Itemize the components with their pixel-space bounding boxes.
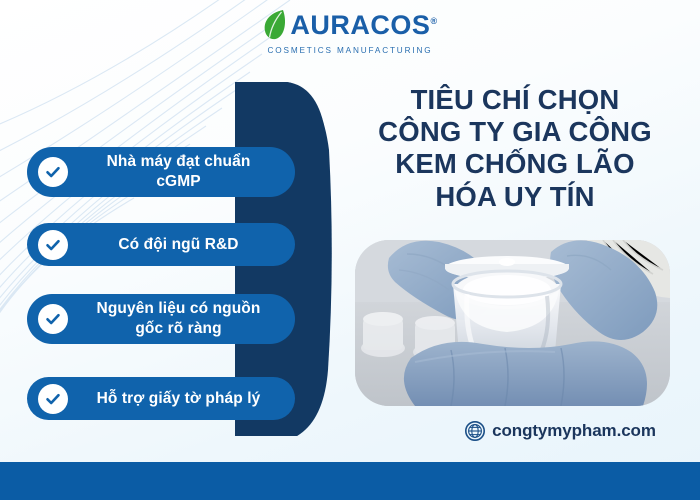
check-circle-icon	[38, 384, 68, 414]
page-title-line1: TIÊU CHÍ CHỌN	[350, 84, 680, 116]
criteria-pill-3-line2: gốc rõ ràng	[135, 320, 221, 337]
criteria-pill-1-label: Nhà máy đạt chuẩn cGMP	[68, 152, 295, 192]
logo-wordmark: AURACOS®	[290, 12, 437, 39]
page-title-line2: CÔNG TY GIA CÔNG	[350, 116, 680, 148]
criteria-pill-1[interactable]: Nhà máy đạt chuẩn cGMP	[27, 147, 295, 197]
criteria-pill-3-label: Nguyên liệu có nguồn gốc rõ ràng	[68, 299, 295, 339]
product-photo	[355, 240, 670, 406]
logo-tagline: COSMETICS MANUFACTURING	[268, 46, 433, 55]
criteria-pill-4[interactable]: Hỗ trợ giấy tờ pháp lý	[27, 377, 295, 420]
check-circle-icon	[38, 157, 68, 187]
footer-bar	[0, 462, 700, 500]
website-url-label: congtymypham.com	[492, 421, 656, 441]
criteria-pill-1-line1: Nhà máy đạt chuẩn	[107, 153, 251, 170]
criteria-pill-1-line2: cGMP	[156, 173, 200, 190]
logo-row: AURACOS®	[262, 8, 437, 42]
criteria-pill-3[interactable]: Nguyên liệu có nguồn gốc rõ ràng	[27, 294, 295, 344]
website-link[interactable]: congtymypham.com	[440, 420, 680, 442]
logo-word-text: AURACOS	[290, 10, 430, 40]
page-title: TIÊU CHÍ CHỌN CÔNG TY GIA CÔNG KEM CHỐNG…	[350, 84, 680, 213]
criteria-pill-3-line1: Nguyên liệu có nguồn	[97, 300, 261, 317]
leaf-icon	[262, 8, 288, 42]
infographic-canvas: AURACOS® COSMETICS MANUFACTURING Nhà máy…	[0, 0, 700, 500]
registered-trademark-symbol: ®	[430, 16, 437, 26]
criteria-pill-2[interactable]: Có đội ngũ R&D	[27, 223, 295, 266]
check-circle-icon	[38, 230, 68, 260]
page-title-line4: HÓA UY TÍN	[350, 181, 680, 213]
criteria-pill-2-label: Có đội ngũ R&D	[68, 235, 295, 255]
check-circle-icon	[38, 304, 68, 334]
criteria-pill-4-label: Hỗ trợ giấy tờ pháp lý	[68, 389, 295, 409]
page-title-line3: KEM CHỐNG LÃO	[350, 148, 680, 180]
globe-icon	[464, 420, 486, 442]
brand-logo: AURACOS® COSMETICS MANUFACTURING	[0, 8, 700, 55]
